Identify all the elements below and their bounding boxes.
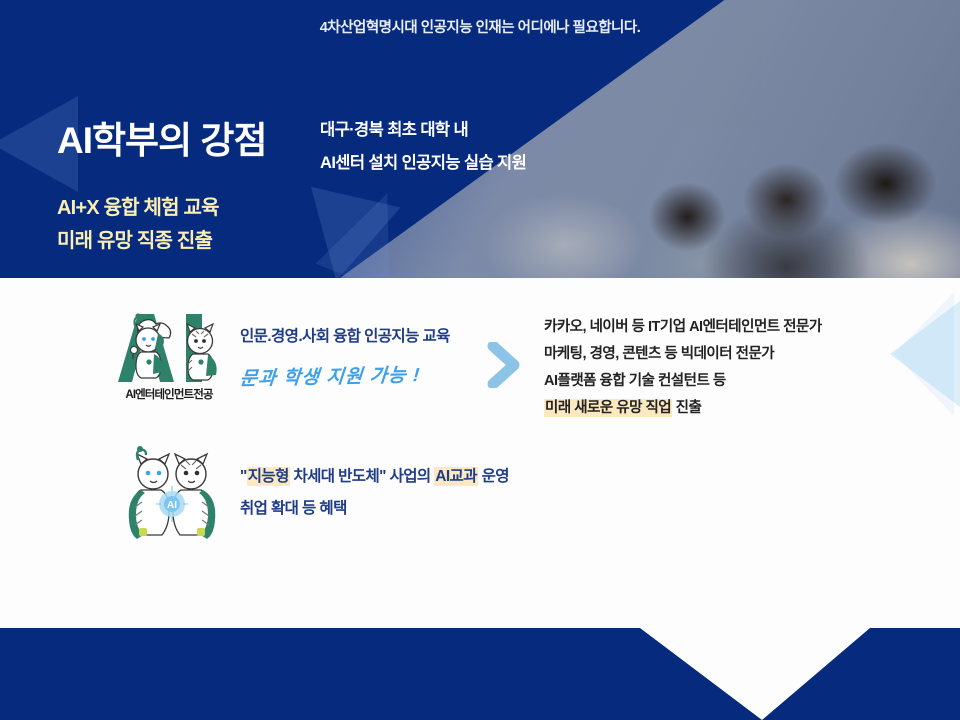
career-outcome-4: 미래 새로운 유망 직업 진출 xyxy=(544,395,822,422)
row2-mid-text: 차세대 반도체" 사업의 xyxy=(290,468,435,485)
row1-handwriting-note: 문과 학생 지원 가능 ! xyxy=(239,360,422,391)
logo-caption: AI엔터테인먼트전공 xyxy=(108,386,230,402)
chevron-right-icon xyxy=(486,342,520,388)
row2-heading-line-1: "지능형 차세대 반도체" 사업의 AI교과 운영 xyxy=(240,464,509,486)
career-outcome-1: 카카오, 네이버 등 IT기업 AI엔터테인먼트 전문가 xyxy=(544,314,822,341)
header-subtitle: 대구·경북 최초 대학 내 AI센터 설치 인공지능 실습 지원 xyxy=(320,114,526,180)
footer-banner xyxy=(0,628,960,720)
career-outcome-4-highlight: 미래 새로운 유망 직업 xyxy=(544,399,672,417)
ai-mascot-logo-icon xyxy=(108,300,230,388)
header-key-point-2: 미래 유망 직종 진출 xyxy=(57,225,219,258)
career-outcome-2: 마케팅, 경영, 콘텐츠 등 빅데이터 전문가 xyxy=(544,341,822,368)
career-outcomes-list: 카카오, 네이버 등 IT기업 AI엔터테인먼트 전문가 마케팅, 경영, 콘텐… xyxy=(544,314,822,422)
svg-text:AI: AI xyxy=(167,500,177,511)
career-outcome-3: AI플랫폼 융합 기술 컨설턴트 등 xyxy=(544,368,822,395)
header-key-points: AI+X 융합 체험 교육 미래 유망 직종 진출 xyxy=(57,192,219,258)
ai-entertainment-logo: AI엔터테인먼트전공 xyxy=(108,300,230,410)
row2-highlight-1: 지능형 xyxy=(247,467,290,486)
two-tigers-ai-orb-icon: AI xyxy=(108,446,230,546)
header-subtitle-line-1: 대구·경북 최초 대학 내 xyxy=(320,114,526,147)
content-row-secondary: AI "지능형 차세대 반도체" 사업의 AI교과 운영 취업 확대 등 혜택 xyxy=(0,446,960,556)
row2-tail-text: 운영 xyxy=(478,468,509,485)
row2-heading-line-2: 취업 확대 등 혜택 xyxy=(240,496,347,518)
header-subtitle-line-2: AI센터 설치 인공지능 실습 지원 xyxy=(320,147,526,180)
career-outcome-4-tail: 진출 xyxy=(672,400,701,416)
row2-highlight-2: AI교과 xyxy=(434,467,478,486)
slide-root: AI학부의 강점 대구·경북 최초 대학 내 AI센터 설치 인공지능 실습 지… xyxy=(0,0,960,720)
header-key-point-1: AI+X 융합 체험 교육 xyxy=(57,192,219,225)
row1-heading: 인문.경영.사회 융합 인공지능 교육 xyxy=(240,324,450,346)
row2-quote-open: " xyxy=(240,468,247,485)
page-title: AI학부의 강점 xyxy=(57,110,266,164)
footer-tagline: 4차산업혁명시대 인공지능 인재는 어디에나 필요합니다. xyxy=(0,16,960,37)
header-banner: AI학부의 강점 대구·경북 최초 대학 내 AI센터 설치 인공지능 실습 지… xyxy=(0,0,960,278)
ai-tigers-mascot: AI xyxy=(108,446,230,556)
